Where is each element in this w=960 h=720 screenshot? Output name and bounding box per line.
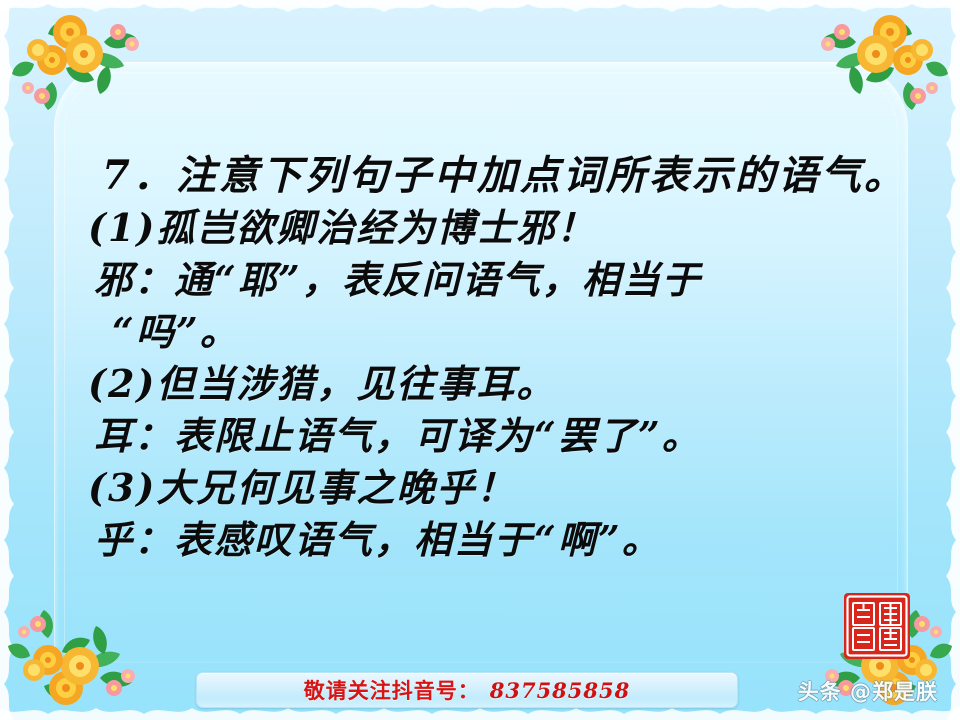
promo-banner[interactable]: 敬请关注抖音号： 837585858: [196, 672, 738, 708]
yellow-flower-group: [857, 15, 933, 75]
example-gloss-1-continued: “吗”。: [0, 306, 960, 358]
lace-border-top: [0, 0, 960, 18]
exercise-heading: 7．注意下列句子中加点词所表示的语气。: [0, 150, 960, 202]
red-seal-stamp: [843, 592, 911, 660]
example-sentence-3: (3)大兄何见事之晚乎！: [0, 462, 960, 514]
promo-banner-account-number: 837585858: [490, 678, 631, 703]
example-sentence-1: (1)孤岂欲卿治经为博士邪！: [0, 202, 960, 254]
example-gloss-2: 耳：表限止语气，可译为“罢了”。: [0, 410, 960, 462]
toutiao-watermark: 头条 @郑是朕: [798, 676, 938, 706]
promo-banner-label: 敬请关注抖音号：: [304, 675, 480, 705]
yellow-flower-group: [27, 15, 103, 75]
example-sentence-2: (2)但当涉猎，见往事耳。: [0, 358, 960, 410]
lesson-content: 7．注意下列句子中加点词所表示的语气。 (1)孤岂欲卿治经为博士邪！ 邪：通“耶…: [0, 150, 960, 566]
example-gloss-1: 邪：通“耶”，表反问语气，相当于: [0, 254, 960, 306]
slide-canvas: 7．注意下列句子中加点词所表示的语气。 (1)孤岂欲卿治经为博士邪！ 邪：通“耶…: [0, 0, 960, 720]
example-gloss-3: 乎：表感叹语气，相当于“啊”。: [0, 514, 960, 566]
